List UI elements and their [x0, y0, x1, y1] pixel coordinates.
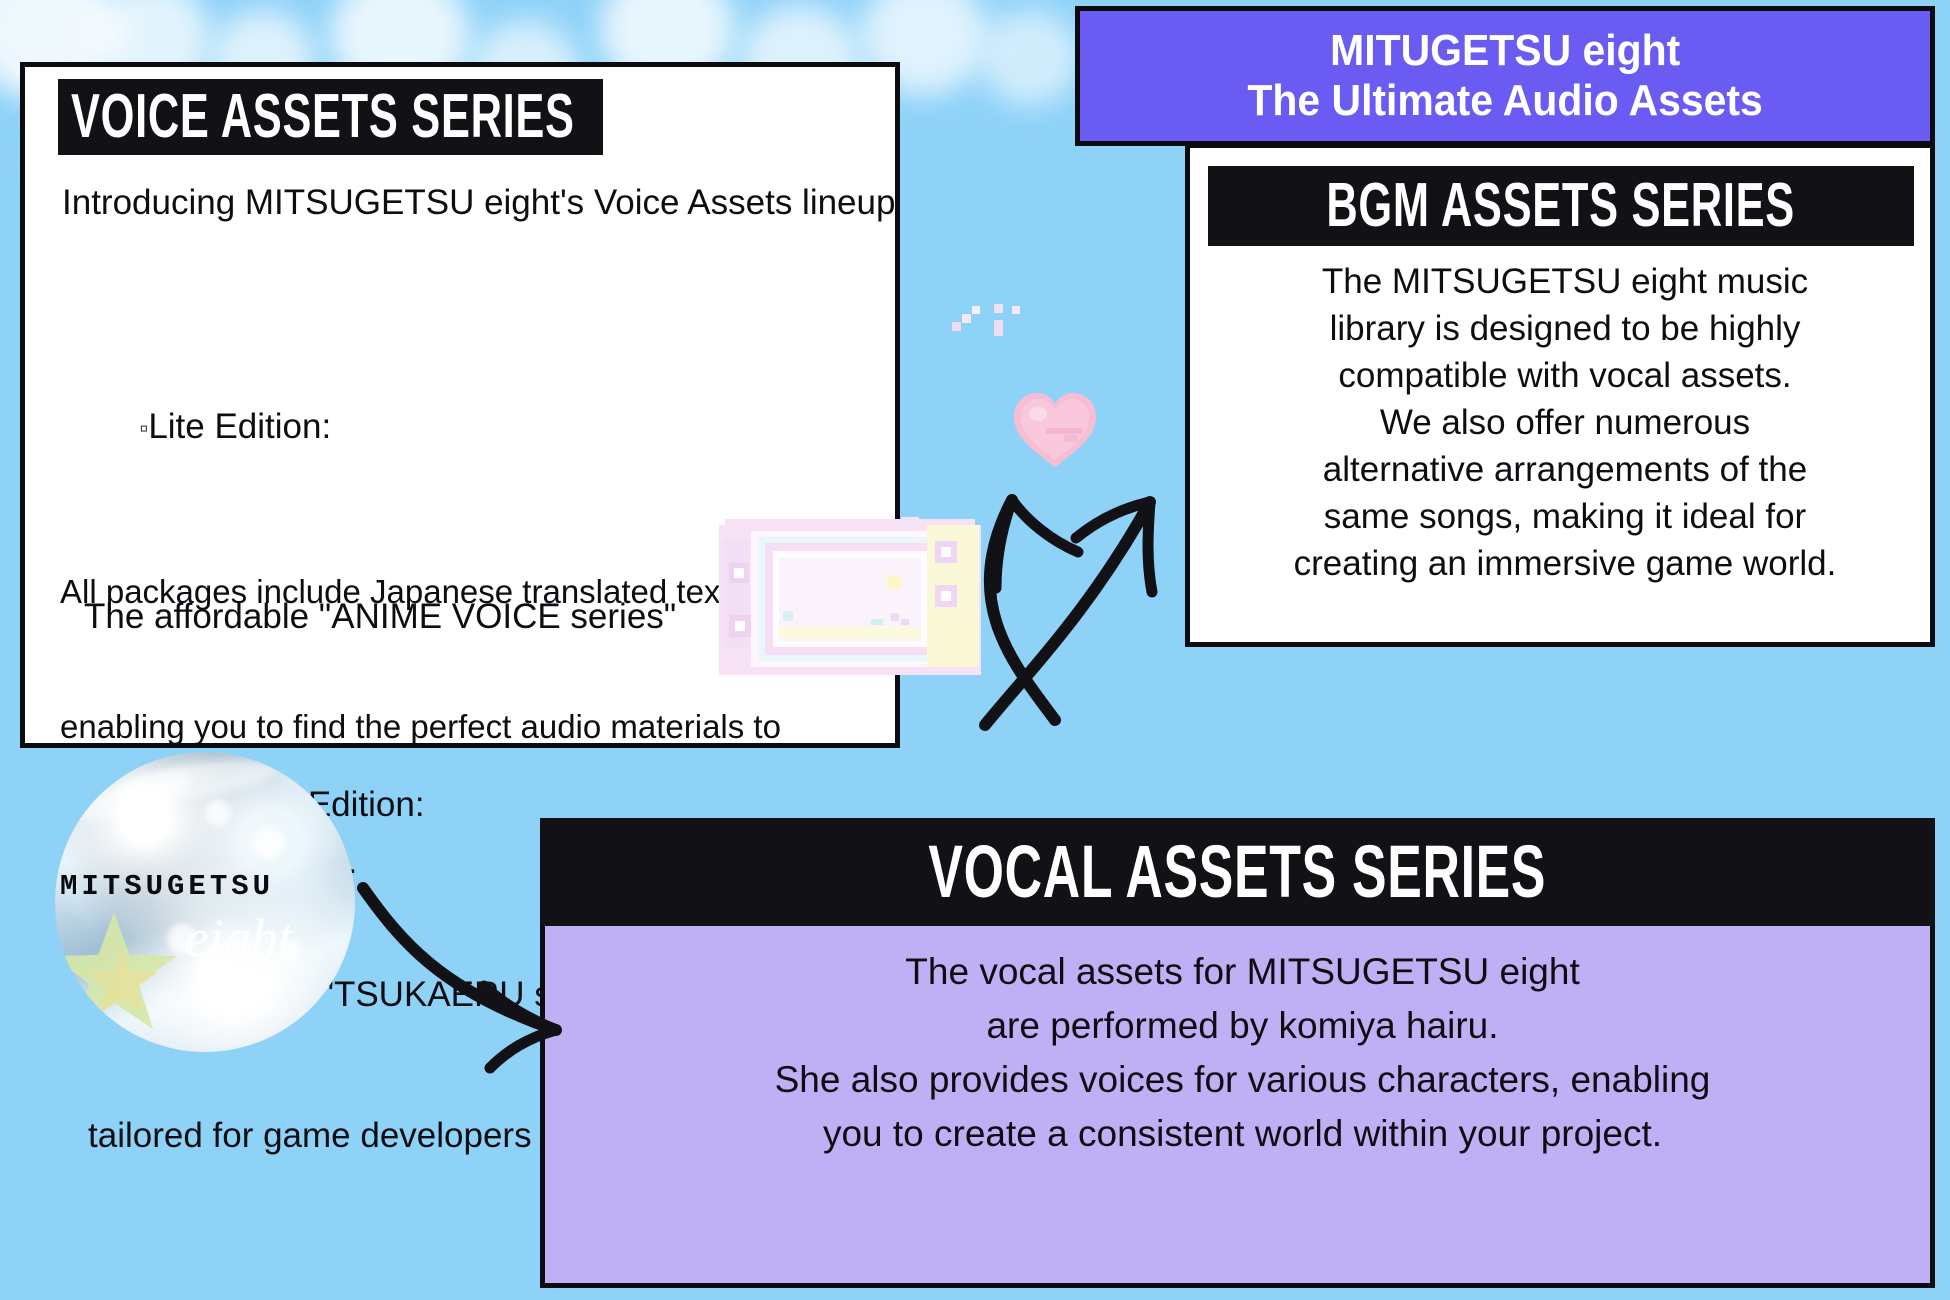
vocal-body-line2: are performed by komiya hairu. [559, 999, 1926, 1053]
bgm-body-line2: library is designed to be highly [1200, 305, 1930, 352]
logo-wordmark: MITSUGETSU [60, 870, 360, 903]
logo-submark: eight [185, 907, 355, 969]
voice-note-line1: All packages include Japanese translated… [60, 569, 781, 614]
bokeh-circle [980, 10, 1080, 105]
water-streak [113, 753, 276, 809]
vocal-body-text: The vocal assets for MITSUGETSU eight ar… [559, 945, 1926, 1161]
mitsugetsu-logo: eight MITSUGETSU [55, 752, 355, 1052]
brand-banner-line1: MITUGETSU eight [1330, 26, 1680, 76]
bgm-assets-title: BGM ASSETS SERIES [1327, 175, 1795, 237]
sparkle-pixels-icon [946, 300, 1026, 360]
bgm-body-line6: same songs, making it ideal for [1200, 493, 1930, 540]
vocal-assets-title: VOCAL ASSETS SERIES [929, 835, 1547, 909]
voice-note-line2: enabling you to find the perfect audio m… [60, 704, 781, 749]
pixel-heart-icon [1010, 388, 1100, 470]
bgm-body-line1: The MITSUGETSU eight music [1200, 258, 1930, 305]
voice-assets-title: VOICE ASSETS SERIES [71, 86, 575, 148]
poster-canvas: MITUGETSU eight The Ultimate Audio Asset… [0, 0, 1950, 1300]
bgm-body-line3: compatible with vocal assets. [1200, 352, 1930, 399]
brand-banner-line2: The Ultimate Audio Assets [1247, 76, 1762, 126]
vocal-body-line1: The vocal assets for MITSUGETSU eight [559, 945, 1926, 999]
water-drop [205, 800, 231, 826]
lite-edition-head: Lite Edition: [148, 407, 331, 446]
voice-intro-text: Introducing MITSUGETSU eight's Voice Ass… [62, 179, 895, 226]
voice-assets-panel: VOICE ASSETS SERIES Introducing MITSUGET… [20, 62, 900, 748]
vocal-body-line3: She also provides voices for various cha… [559, 1053, 1926, 1107]
voice-assets-title-band: VOICE ASSETS SERIES [58, 79, 603, 155]
bgm-body-line4: We also offer numerous [1200, 399, 1930, 446]
voice-list-item: ▫Lite Edition: [62, 356, 676, 499]
bgm-body-text: The MITSUGETSU eight music library is de… [1200, 258, 1930, 587]
water-drop [251, 826, 285, 860]
bgm-body-line7: creating an immersive game world. [1200, 540, 1930, 587]
brand-banner: MITUGETSU eight The Ultimate Audio Asset… [1075, 6, 1935, 146]
bgm-assets-panel: BGM ASSETS SERIES The MITSUGETSU eight m… [1185, 143, 1935, 647]
pixel-console-icon [715, 515, 985, 680]
bgm-body-line5: alternative arrangements of the [1200, 446, 1930, 493]
bgm-assets-title-band: BGM ASSETS SERIES [1208, 166, 1914, 246]
vocal-assets-title-band: VOCAL ASSETS SERIES [540, 818, 1935, 926]
vocal-assets-panel: VOCAL ASSETS SERIES The vocal assets for… [540, 818, 1935, 1288]
vocal-body-line4: you to create a consistent world within … [559, 1107, 1926, 1161]
